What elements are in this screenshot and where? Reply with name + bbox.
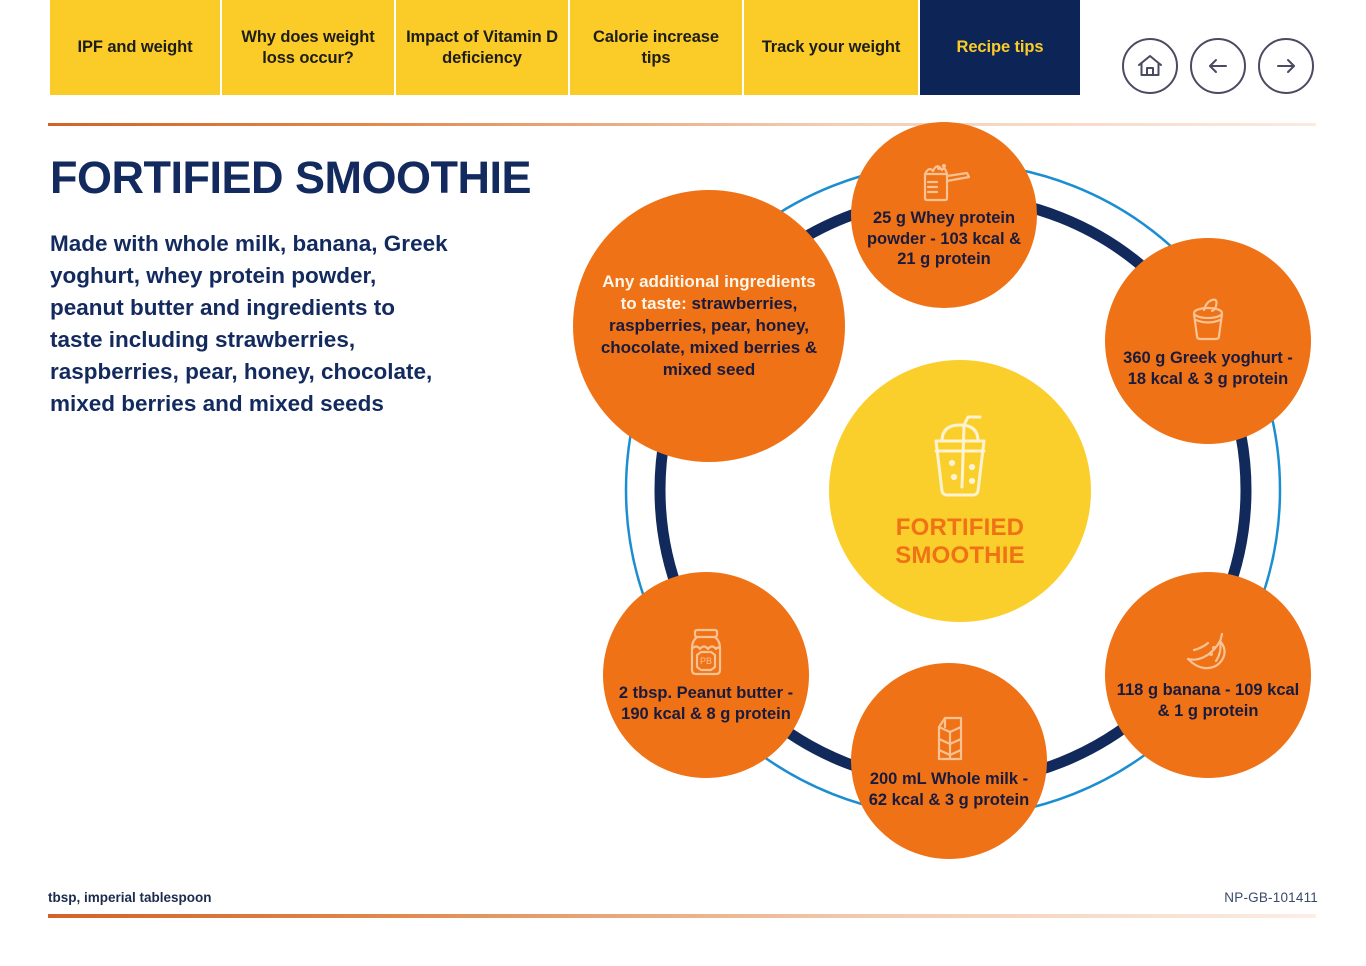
center-label-line1: FORTIFIED <box>895 514 1025 541</box>
ingredient-bubble-greek-yoghurt-text: 360 g Greek yoghurt - 18 kcal & 3 g prot… <box>1105 348 1311 390</box>
ingredient-bubble-banana-text: 118 g banana - 109 kcal & 1 g protein <box>1105 680 1311 722</box>
arrow-left-icon <box>1203 51 1233 81</box>
ingredient-bubble-whey-protein-text: 25 g Whey protein powder - 103 kcal & 21… <box>851 208 1037 270</box>
ingredient-bubble-banana[interactable]: 118 g banana - 109 kcal & 1 g protein <box>1105 572 1311 778</box>
tab-impact-of-vitamin-d-deficiency[interactable]: Impact of Vitamin D deficiency <box>396 0 570 95</box>
tab-recipe-tips[interactable]: Recipe tips <box>920 0 1080 95</box>
center-label-text: FORTIFIED SMOOTHIE <box>895 514 1025 569</box>
main-tab-bar: IPF and weight Why does weight loss occu… <box>50 0 1128 95</box>
tab-track-your-weight[interactable]: Track your weight <box>744 0 920 95</box>
milk-carton-icon <box>927 711 971 765</box>
ingredient-bubble-whole-milk[interactable]: 200 mL Whole milk - 62 kcal & 3 g protei… <box>851 663 1047 859</box>
ingredient-bubble-extras[interactable]: Any additional ingredients to taste: str… <box>573 190 845 462</box>
banana-icon <box>1178 628 1238 676</box>
footnote-text: tbsp, imperial tablespoon <box>48 890 212 905</box>
forward-button[interactable] <box>1258 38 1314 94</box>
smoothie-cup-icon <box>922 413 998 504</box>
ingredient-bubble-peanut-butter-text: 2 tbsp. Peanut butter - 190 kcal & 8 g p… <box>603 683 809 725</box>
ingredient-bubble-extras-text: Any additional ingredients to taste: str… <box>573 271 845 381</box>
home-icon <box>1135 51 1165 81</box>
footer-divider-rule <box>48 914 1316 918</box>
recipe-description: Made with whole milk, banana, Greek yogh… <box>50 228 450 420</box>
home-button[interactable] <box>1122 38 1178 94</box>
back-button[interactable] <box>1190 38 1246 94</box>
tab-why-does-weight-loss-occur[interactable]: Why does weight loss occur? <box>222 0 396 95</box>
arrow-right-icon <box>1271 51 1301 81</box>
tab-ipf-and-weight[interactable]: IPF and weight <box>50 0 222 95</box>
svg-text:PB: PB <box>700 656 712 666</box>
navigation-buttons <box>1122 38 1314 94</box>
ingredient-bubble-greek-yoghurt[interactable]: 360 g Greek yoghurt - 18 kcal & 3 g prot… <box>1105 238 1311 444</box>
ingredient-bubble-peanut-butter[interactable]: PB 2 tbsp. Peanut butter - 190 kcal & 8 … <box>603 572 809 778</box>
page-title: FORTIFIED SMOOTHIE <box>50 152 531 204</box>
center-label-line2: SMOOTHIE <box>895 542 1025 569</box>
tab-calorie-increase-tips[interactable]: Calorie increase tips <box>570 0 744 95</box>
ingredient-wheel-diagram: Any additional ingredients to taste: str… <box>573 110 1333 870</box>
ingredient-bubble-whey-protein[interactable]: 25 g Whey protein powder - 103 kcal & 21… <box>851 122 1037 308</box>
yoghurt-tub-icon <box>1182 292 1234 344</box>
diagram-center-label[interactable]: FORTIFIED SMOOTHIE <box>829 360 1091 622</box>
protein-scoop-icon <box>915 160 973 204</box>
document-code: NP-GB-101411 <box>1224 890 1318 905</box>
peanut-butter-jar-icon: PB <box>682 625 730 679</box>
ingredient-bubble-whole-milk-text: 200 mL Whole milk - 62 kcal & 3 g protei… <box>851 769 1047 811</box>
